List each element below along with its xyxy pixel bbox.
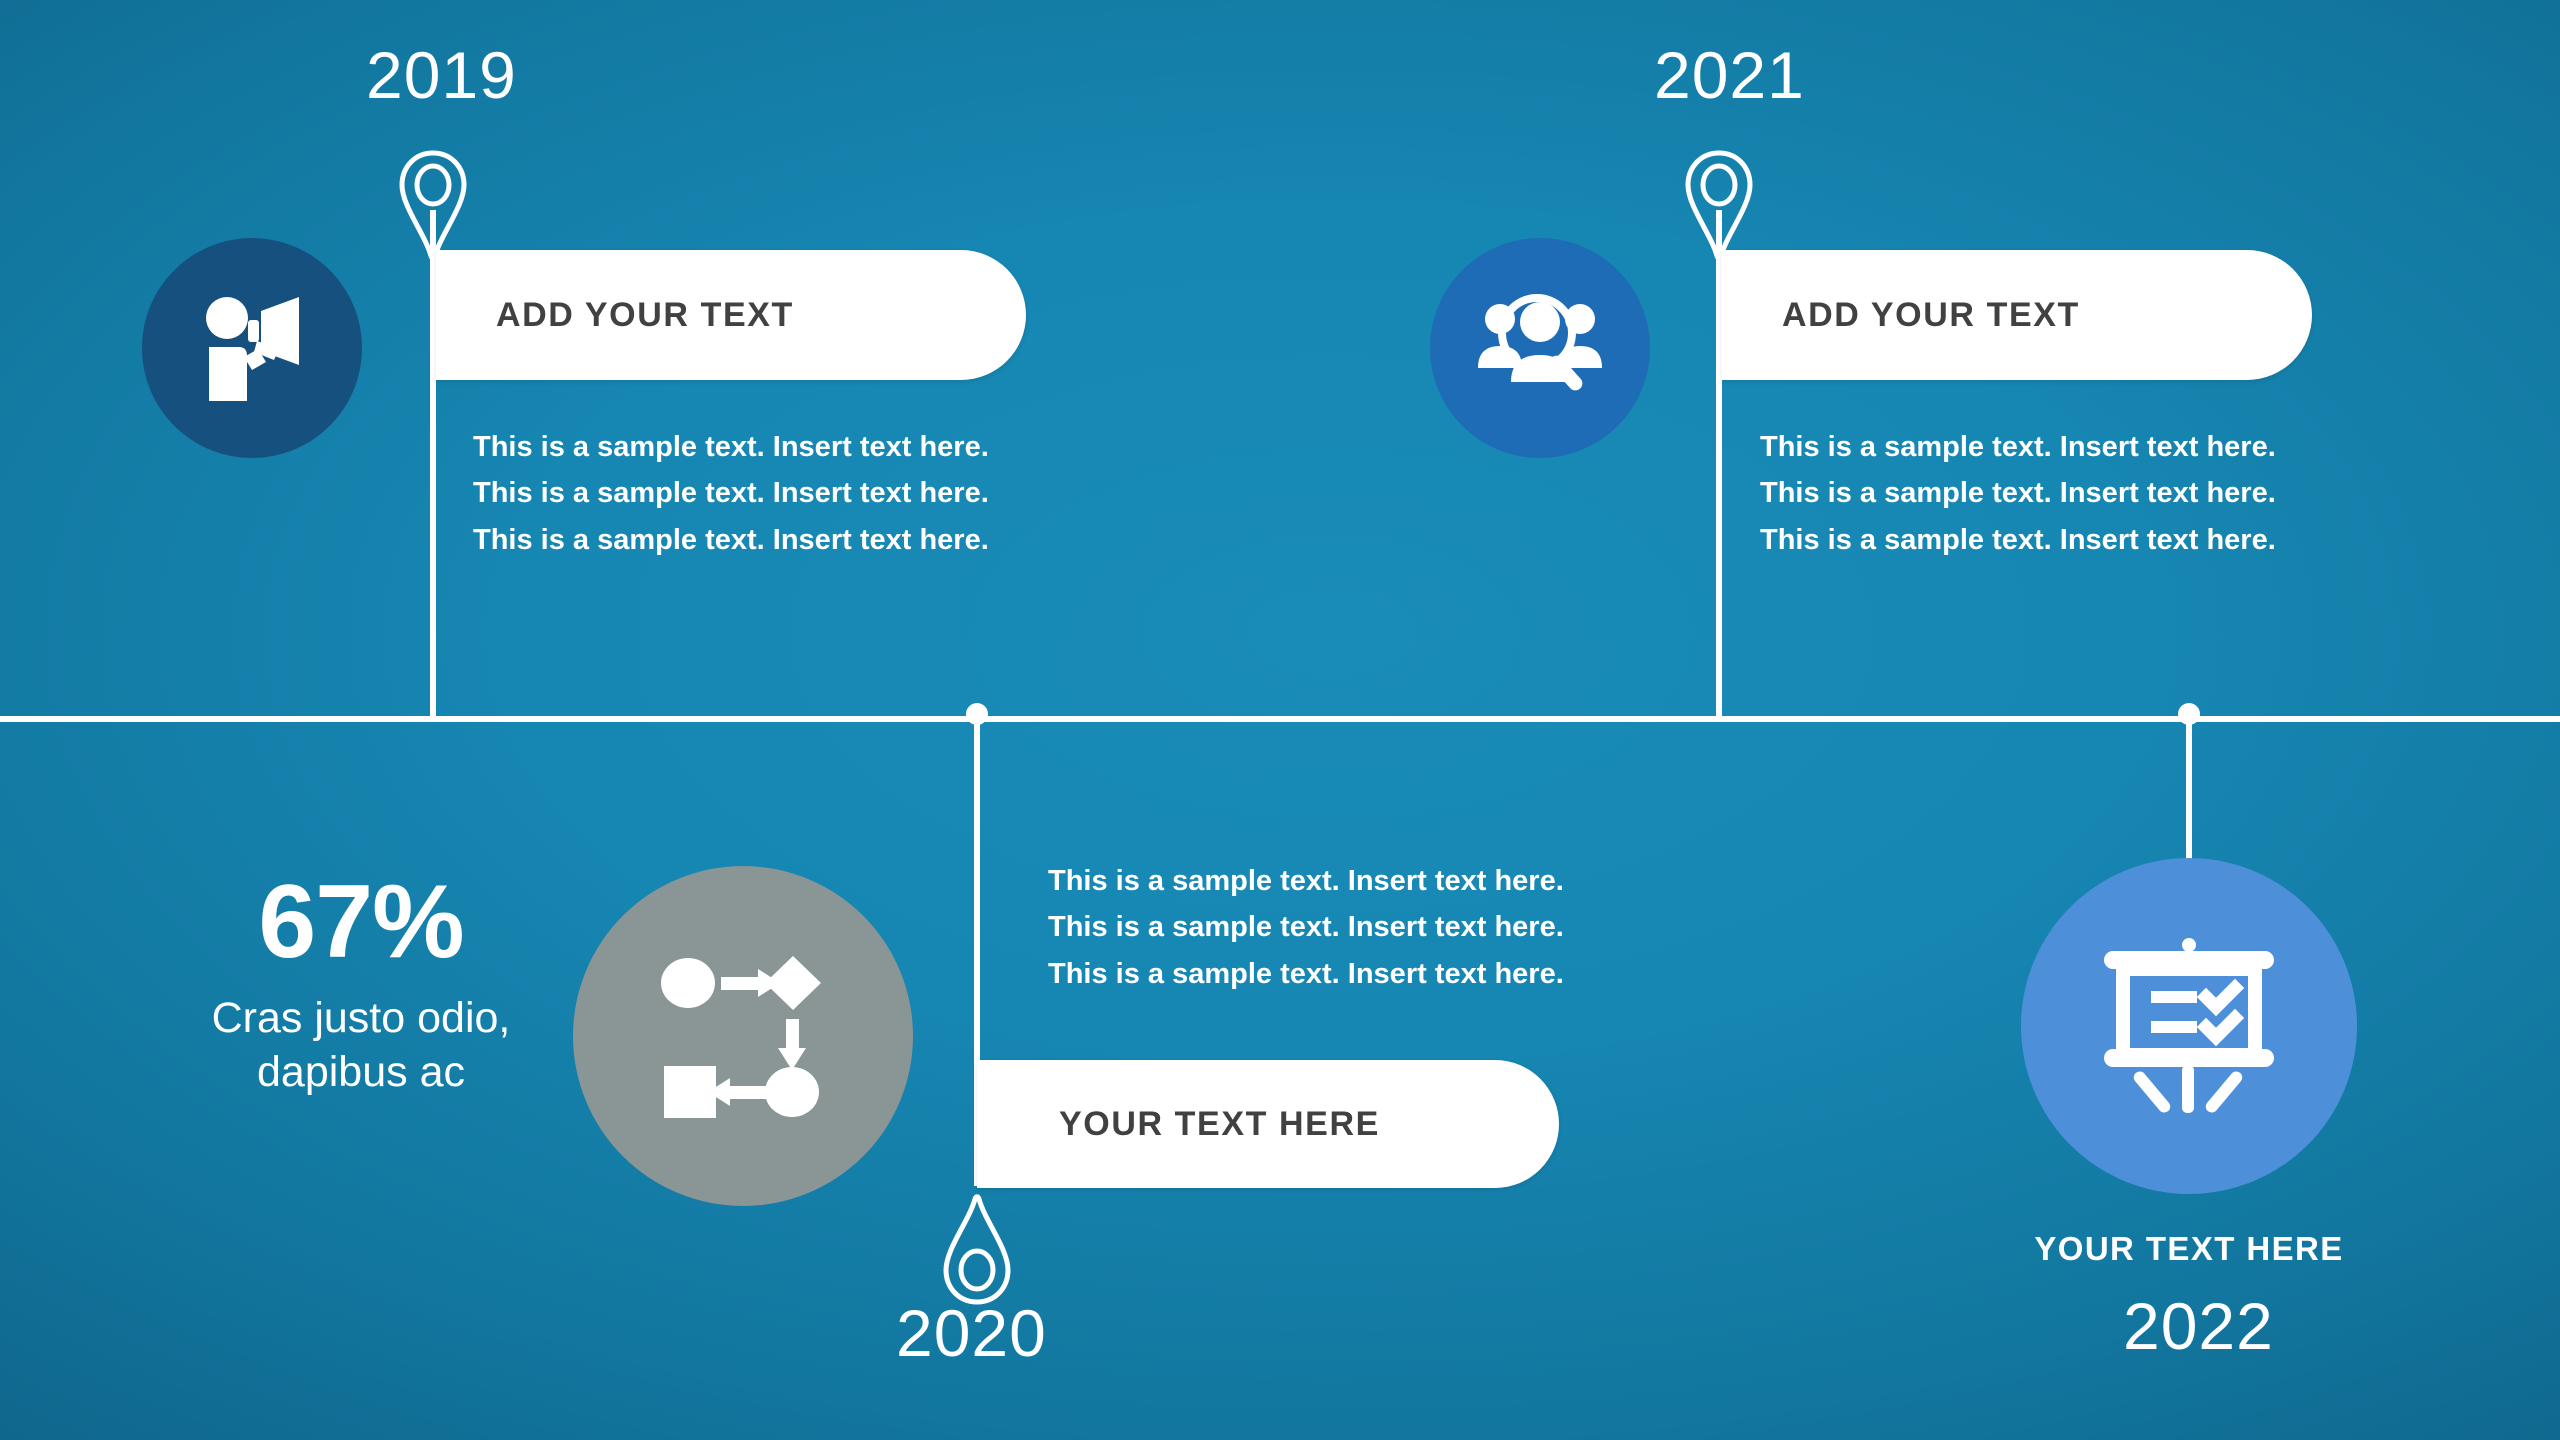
milestone-icon-circle-2020[interactable] — [573, 866, 913, 1206]
body-line: This is a sample text. Insert text here. — [1760, 424, 2276, 470]
body-line: This is a sample text. Insert text here. — [473, 470, 989, 516]
map-pin-inverted-icon-2020 — [942, 1192, 1012, 1307]
body-line: This is a sample text. Insert text here. — [473, 517, 989, 563]
body-line: This is a sample text. Insert text here. — [1048, 951, 1564, 997]
stat-caption-line-1: Cras justo odio, — [166, 992, 556, 1046]
milestone-caption-2022: YOUR TEXT HERE — [1909, 1230, 2469, 1268]
body-line: This is a sample text. Insert text here. — [1760, 470, 2276, 516]
milestone-pill-label-2019: ADD YOUR TEXT — [496, 296, 794, 335]
body-line: This is a sample text. Insert text here. — [1760, 517, 2276, 563]
map-pin-icon-2019 — [398, 148, 468, 263]
year-label-2020: 2020 — [896, 1300, 1047, 1366]
milestone-body-2020: This is a sample text. Insert text here.… — [1048, 858, 1564, 997]
body-line: This is a sample text. Insert text here. — [473, 424, 989, 470]
year-label-2019: 2019 — [366, 42, 517, 108]
milestone-pill-2021[interactable]: ADD YOUR TEXT — [1722, 250, 2312, 380]
stat-value: 67% — [166, 870, 556, 974]
body-line: This is a sample text. Insert text here. — [1048, 858, 1564, 904]
milestone-body-2021: This is a sample text. Insert text here.… — [1760, 424, 2276, 563]
milestone-icon-circle-2022[interactable] — [2021, 858, 2357, 1194]
milestone-pill-2019[interactable]: ADD YOUR TEXT — [436, 250, 1026, 380]
year-label-2022: 2022 — [2123, 1293, 2274, 1359]
milestone-pill-label-2020: YOUR TEXT HERE — [1059, 1105, 1380, 1144]
megaphone-announcement-icon — [189, 285, 315, 411]
connector-line-2022 — [2186, 716, 2192, 870]
milestone-icon-circle-2021[interactable] — [1430, 238, 1650, 458]
presentation-checklist-icon — [2096, 937, 2282, 1115]
milestone-pill-label-2021: ADD YOUR TEXT — [1782, 296, 2080, 335]
stat-caption: Cras justo odio, dapibus ac — [166, 992, 556, 1100]
people-search-icon — [1475, 286, 1605, 410]
workflow-process-icon — [658, 953, 828, 1119]
body-line: This is a sample text. Insert text here. — [1048, 904, 1564, 950]
map-pin-icon-2021 — [1684, 148, 1754, 263]
milestone-body-2019: This is a sample text. Insert text here.… — [473, 424, 989, 563]
milestone-icon-circle-2019[interactable] — [142, 238, 362, 458]
milestone-pill-2020[interactable]: YOUR TEXT HERE — [977, 1060, 1559, 1188]
stat-caption-line-2: dapibus ac — [166, 1046, 556, 1100]
stat-block: 67% Cras justo odio, dapibus ac — [166, 870, 556, 1100]
timeline-axis — [0, 716, 2560, 722]
year-label-2021: 2021 — [1654, 42, 1805, 108]
